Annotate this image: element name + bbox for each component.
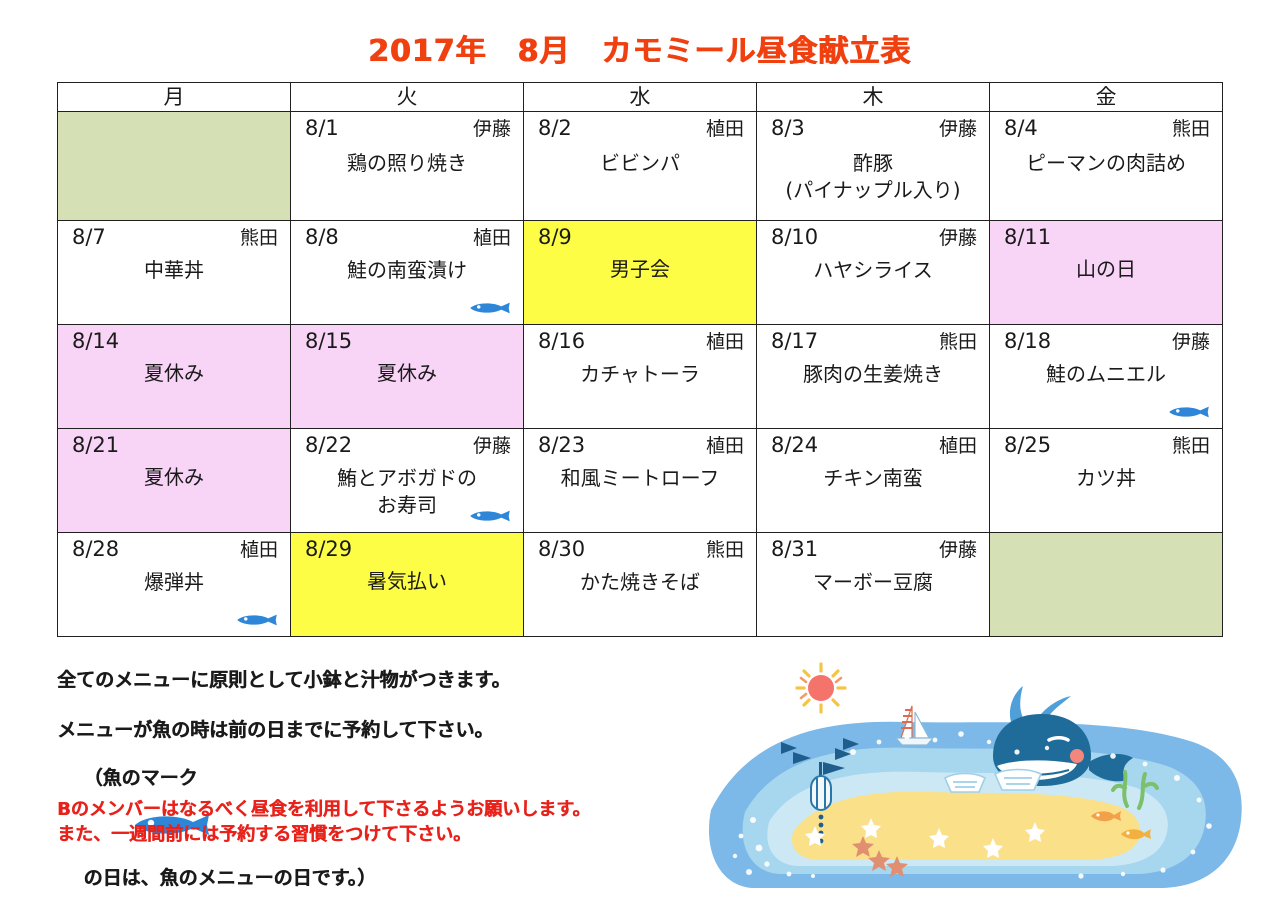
cell-dish-name: 和風ミートローフ	[524, 459, 756, 492]
calendar-week-row: 8/14夏休み8/15夏休み8/16植田カチャトーラ8/17熊田豚肉の生姜焼き8…	[58, 325, 1223, 429]
note-line-1: 全てのメニューに原則として小鉢と汁物がつきます。	[57, 668, 707, 692]
calendar-cell-empty	[58, 112, 291, 221]
cell-staff-name: 熊田	[706, 537, 744, 563]
cell-staff-name: 植田	[473, 225, 511, 251]
cell-dish-name: マーボー豆腐	[757, 563, 989, 596]
cell-date: 8/8	[305, 224, 339, 250]
cell-dish-name: ハヤシライス	[757, 251, 989, 284]
cell-staff-name: 熊田	[1172, 433, 1210, 459]
cell-staff-name: 伊藤	[939, 537, 977, 563]
cell-dish-name: かた焼きそば	[524, 563, 756, 596]
calendar-cell-day[interactable]: 8/2植田ビビンパ	[524, 112, 757, 221]
cell-staff-name: 伊藤	[473, 433, 511, 459]
cell-dish-name: 山の日	[990, 250, 1222, 283]
cell-date: 8/2	[538, 115, 572, 141]
calendar-week-row: 8/21夏休み8/22伊藤鮪とアボガドの お寿司8/23植田和風ミートローフ8/…	[58, 429, 1223, 533]
cell-header: 8/24植田	[757, 429, 989, 459]
cell-header: 8/15	[291, 325, 523, 354]
cell-dish-name: 酢豚 (パイナップル入り)	[757, 142, 989, 204]
fish-icon	[467, 506, 513, 526]
note-line-2: メニューが魚の時は前の日までに予約して下さい。	[57, 718, 707, 742]
cell-date: 8/1	[305, 115, 339, 141]
cell-date: 8/30	[538, 536, 585, 562]
weekday-header-thu: 木	[757, 83, 990, 112]
beach-illustration	[693, 660, 1253, 900]
cell-dish-name: 鮭の南蛮漬け	[291, 251, 523, 284]
cell-header: 8/3伊藤	[757, 112, 989, 142]
cell-header: 8/14	[58, 325, 290, 354]
cell-dish-name: 爆弾丼	[58, 563, 290, 596]
calendar-cell-day[interactable]: 8/8植田鮭の南蛮漬け	[291, 221, 524, 325]
calendar-cell-day[interactable]: 8/31伊藤マーボー豆腐	[757, 533, 990, 637]
weekday-header-wed: 水	[524, 83, 757, 112]
cell-header: 8/16植田	[524, 325, 756, 355]
weekday-header-tue: 火	[291, 83, 524, 112]
cell-header: 8/9	[524, 221, 756, 250]
calendar-cell-empty	[990, 533, 1223, 637]
page-title: 2017年 8月 カモミール昼食献立表	[0, 26, 1280, 70]
cell-date: 8/21	[72, 432, 119, 458]
cell-staff-name: 植田	[939, 433, 977, 459]
cell-header: 8/7熊田	[58, 221, 290, 251]
cell-header: 8/29	[291, 533, 523, 562]
calendar-cell-day[interactable]: 8/23植田和風ミートローフ	[524, 429, 757, 533]
cell-dish-name: 豚肉の生姜焼き	[757, 355, 989, 388]
cell-header: 8/11	[990, 221, 1222, 250]
cell-header: 8/23植田	[524, 429, 756, 459]
calendar-container: 月 火 水 木 金 8/1伊藤鶏の照り焼き8/2植田ビビンパ8/3伊藤酢豚 (パ…	[57, 82, 1222, 637]
calendar-cell-day[interactable]: 8/10伊藤ハヤシライス	[757, 221, 990, 325]
cell-dish-name: カチャトーラ	[524, 355, 756, 388]
calendar-cell-day[interactable]: 8/4熊田ピーマンの肉詰め	[990, 112, 1223, 221]
cell-date: 8/28	[72, 536, 119, 562]
cell-dish-name: 夏休み	[291, 354, 523, 387]
note-line-3-suffix: の日は、魚のメニューの日です。）	[83, 867, 376, 889]
calendar-cell-day[interactable]: 8/28植田爆弾丼	[58, 533, 291, 637]
cell-staff-name: 熊田	[240, 225, 278, 251]
cell-date: 8/24	[771, 432, 818, 458]
cell-dish-name: 夏休み	[58, 458, 290, 491]
cell-header: 8/1伊藤	[291, 112, 523, 142]
sand	[792, 792, 1140, 860]
cell-date: 8/23	[538, 432, 585, 458]
cell-staff-name: 伊藤	[939, 225, 977, 251]
weekday-header-fri: 金	[990, 83, 1223, 112]
cell-dish-name: 夏休み	[58, 354, 290, 387]
calendar-cell-day[interactable]: 8/29暑気払い	[291, 533, 524, 637]
notes-section: 全てのメニューに原則として小鉢と汁物がつきます。 メニューが魚の時は前の日までに…	[57, 668, 707, 914]
fish-icon	[467, 298, 513, 318]
calendar-cell-day[interactable]: 8/15夏休み	[291, 325, 524, 429]
calendar-cell-day[interactable]: 8/11山の日	[990, 221, 1223, 325]
fish-icon	[1166, 402, 1212, 422]
cell-staff-name: 植田	[706, 433, 744, 459]
cell-header: 8/22伊藤	[291, 429, 523, 459]
calendar-cell-day[interactable]: 8/22伊藤鮪とアボガドの お寿司	[291, 429, 524, 533]
sun-icon	[797, 664, 845, 712]
cell-date: 8/25	[1004, 432, 1051, 458]
calendar-cell-day[interactable]: 8/16植田カチャトーラ	[524, 325, 757, 429]
cell-header: 8/2植田	[524, 112, 756, 142]
cell-header: 8/8植田	[291, 221, 523, 251]
calendar-cell-day[interactable]: 8/24植田チキン南蛮	[757, 429, 990, 533]
cell-date: 8/7	[72, 224, 106, 250]
calendar-cell-day[interactable]: 8/3伊藤酢豚 (パイナップル入り)	[757, 112, 990, 221]
calendar-week-row: 8/1伊藤鶏の照り焼き8/2植田ビビンパ8/3伊藤酢豚 (パイナップル入り)8/…	[58, 112, 1223, 221]
cell-staff-name: 植田	[240, 537, 278, 563]
cell-staff-name: 植田	[706, 116, 744, 142]
cell-date: 8/3	[771, 115, 805, 141]
cell-date: 8/10	[771, 224, 818, 250]
cell-header: 8/18伊藤	[990, 325, 1222, 355]
calendar-cell-day[interactable]: 8/30熊田かた焼きそば	[524, 533, 757, 637]
cell-date: 8/17	[771, 328, 818, 354]
cell-date: 8/22	[305, 432, 352, 458]
note-line-3-prefix: （魚のマーク	[83, 767, 197, 789]
calendar-cell-day[interactable]: 8/17熊田豚肉の生姜焼き	[757, 325, 990, 429]
cell-dish-name: チキン南蛮	[757, 459, 989, 492]
weekday-header-mon: 月	[58, 83, 291, 112]
cell-date: 8/31	[771, 536, 818, 562]
calendar-cell-day[interactable]: 8/18伊藤鮭のムニエル	[990, 325, 1223, 429]
cell-header: 8/21	[58, 429, 290, 458]
cell-dish-name: ビビンパ	[524, 142, 756, 177]
cell-date: 8/18	[1004, 328, 1051, 354]
cell-header: 8/31伊藤	[757, 533, 989, 563]
cell-date: 8/9	[538, 224, 572, 250]
calendar-week-row: 8/7熊田中華丼8/8植田鮭の南蛮漬け8/9男子会8/10伊藤ハヤシライス8/1…	[58, 221, 1223, 325]
cell-header: 8/28植田	[58, 533, 290, 563]
cell-date: 8/11	[1004, 224, 1051, 250]
cell-dish-name: 鮭のムニエル	[990, 355, 1222, 388]
calendar-cell-day[interactable]: 8/7熊田中華丼	[58, 221, 291, 325]
fish-icon	[234, 610, 280, 630]
menu-calendar-table: 月 火 水 木 金 8/1伊藤鶏の照り焼き8/2植田ビビンパ8/3伊藤酢豚 (パ…	[57, 82, 1223, 637]
cell-date: 8/14	[72, 328, 119, 354]
cell-staff-name: 伊藤	[939, 116, 977, 142]
cell-header: 8/10伊藤	[757, 221, 989, 251]
cell-dish-name: 暑気払い	[291, 562, 523, 595]
cell-date: 8/15	[305, 328, 352, 354]
calendar-cell-day[interactable]: 8/25熊田カツ丼	[990, 429, 1223, 533]
cell-staff-name: 伊藤	[473, 116, 511, 142]
red-note-line-1: Bのメンバーはなるべく昼食を利用して下さるようお願いします。	[57, 797, 757, 822]
cell-dish-name: ピーマンの肉詰め	[990, 142, 1222, 177]
calendar-cell-day[interactable]: 8/1伊藤鶏の照り焼き	[291, 112, 524, 221]
calendar-week-row: 8/28植田爆弾丼8/29暑気払い8/30熊田かた焼きそば8/31伊藤マーボー豆…	[58, 533, 1223, 637]
calendar-cell-day[interactable]: 8/14夏休み	[58, 325, 291, 429]
cell-header: 8/30熊田	[524, 533, 756, 563]
cell-staff-name: 伊藤	[1172, 329, 1210, 355]
cell-header: 8/17熊田	[757, 325, 989, 355]
cell-dish-name: 男子会	[524, 250, 756, 283]
calendar-cell-day[interactable]: 8/21夏休み	[58, 429, 291, 533]
cell-staff-name: 植田	[706, 329, 744, 355]
cell-dish-name: 鶏の照り焼き	[291, 142, 523, 177]
red-note-line-2: また、一週間前には予約する習慣をつけて下さい。	[57, 822, 757, 847]
cell-header: 8/25熊田	[990, 429, 1222, 459]
cell-dish-name: 中華丼	[58, 251, 290, 284]
notes-red-section: Bのメンバーはなるべく昼食を利用して下さるようお願いします。 また、一週間前には…	[57, 797, 757, 847]
cell-header: 8/4熊田	[990, 112, 1222, 142]
calendar-cell-day[interactable]: 8/9男子会	[524, 221, 757, 325]
cell-date: 8/4	[1004, 115, 1038, 141]
cell-staff-name: 熊田	[939, 329, 977, 355]
cell-dish-name: カツ丼	[990, 459, 1222, 492]
cell-staff-name: 熊田	[1172, 116, 1210, 142]
weekday-header-row: 月 火 水 木 金	[58, 83, 1223, 112]
cell-date: 8/16	[538, 328, 585, 354]
cell-date: 8/29	[305, 536, 352, 562]
